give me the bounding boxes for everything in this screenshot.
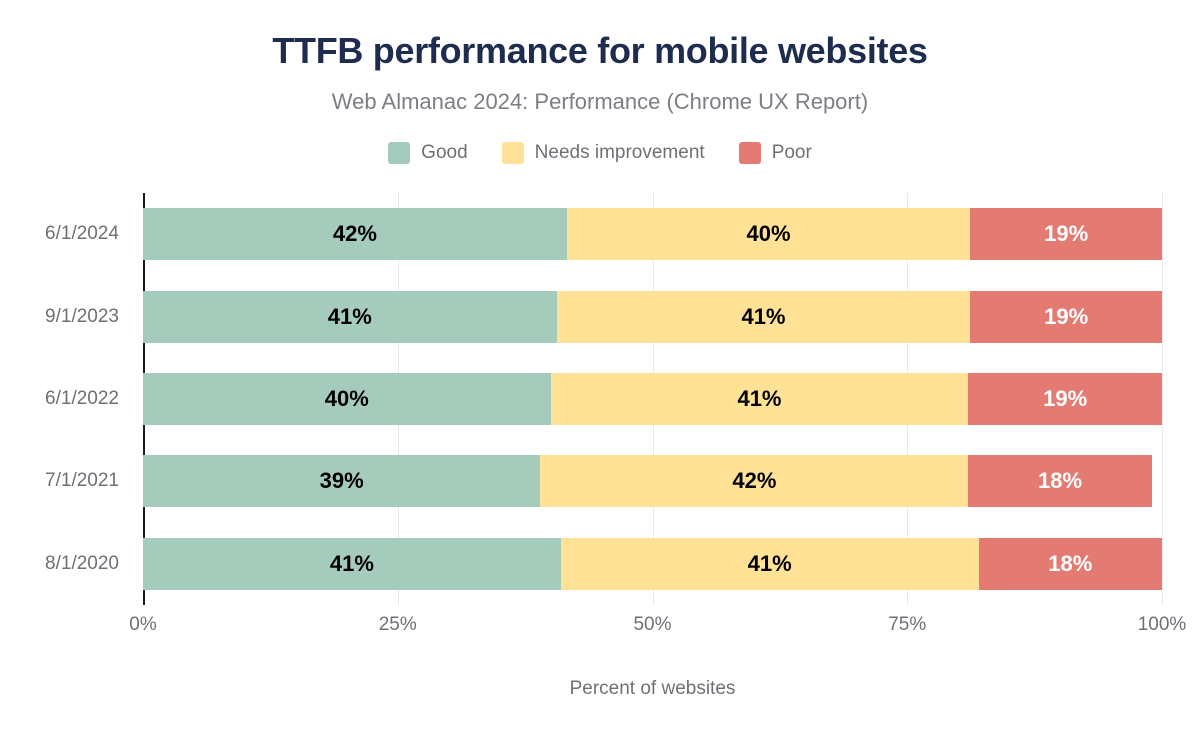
- x-axis-tick-label: 50%: [633, 614, 671, 636]
- x-axis-tick-label: 0%: [129, 614, 156, 636]
- x-axis-tick-label: 100%: [1138, 614, 1187, 636]
- y-axis-tick-label: 9/1/2023: [0, 306, 119, 328]
- y-axis-tick-labels: 6/1/20249/1/20236/1/20227/1/20218/1/2020: [143, 193, 1162, 605]
- legend-swatch-icon: [739, 142, 761, 164]
- y-axis-tick-label: 6/1/2024: [0, 223, 119, 245]
- legend-label: Good: [421, 142, 467, 164]
- legend-swatch-icon: [388, 142, 410, 164]
- legend-label: Poor: [772, 142, 812, 164]
- chart-container: TTFB performance for mobile websites Web…: [0, 0, 1200, 742]
- legend-label: Needs improvement: [535, 142, 705, 164]
- legend-item[interactable]: Good: [388, 142, 467, 164]
- x-axis-title: Percent of websites: [143, 678, 1162, 700]
- legend-item[interactable]: Poor: [739, 142, 812, 164]
- chart-legend: GoodNeeds improvementPoor: [0, 142, 1200, 164]
- legend-swatch-icon: [502, 142, 524, 164]
- chart-subtitle: Web Almanac 2024: Performance (Chrome UX…: [0, 89, 1200, 115]
- x-axis-tick-label: 75%: [888, 614, 926, 636]
- x-axis-tick-label: 25%: [379, 614, 417, 636]
- gridline: [1162, 193, 1163, 605]
- y-axis-tick-label: 8/1/2020: [0, 553, 119, 575]
- plot-area: 42%40%19%41%41%19%40%41%19%39%42%18%41%4…: [143, 193, 1162, 605]
- chart-title: TTFB performance for mobile websites: [0, 30, 1200, 72]
- legend-item[interactable]: Needs improvement: [502, 142, 705, 164]
- y-axis-tick-label: 6/1/2022: [0, 388, 119, 410]
- y-axis-tick-label: 7/1/2021: [0, 470, 119, 492]
